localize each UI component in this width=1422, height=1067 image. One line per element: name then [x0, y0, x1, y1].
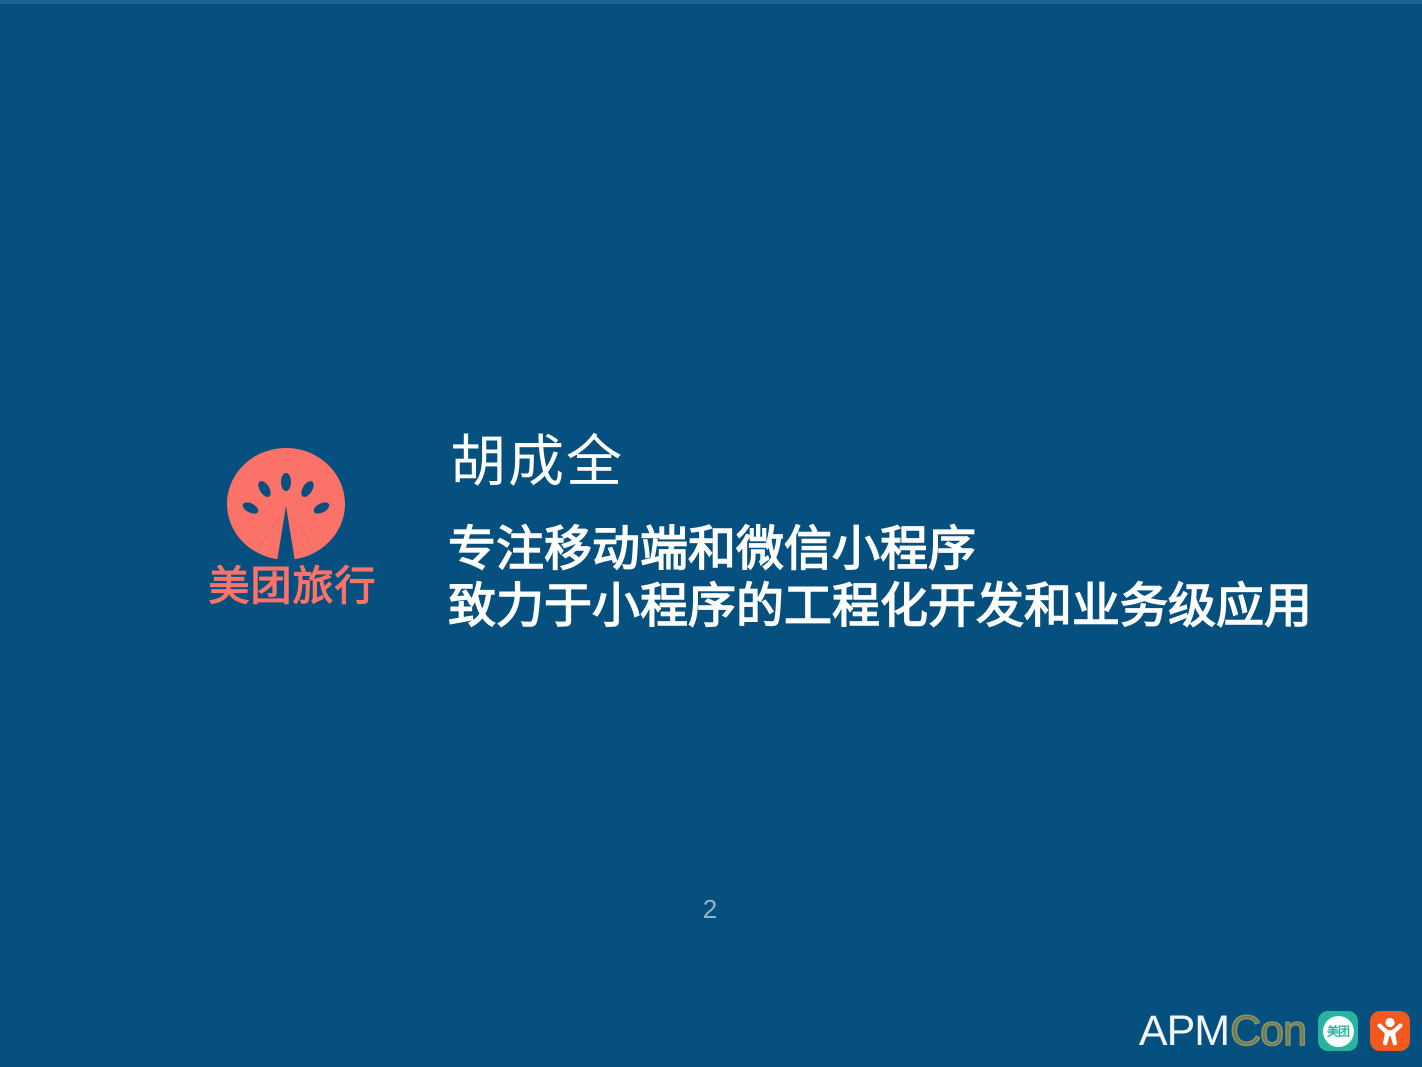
meituan-app-icon: 美团	[1318, 1011, 1358, 1051]
dianping-app-icon	[1370, 1011, 1410, 1051]
slide-top-edge-band	[0, 0, 1422, 4]
apmcon-logo-primary: APM	[1139, 1010, 1229, 1053]
speaker-tagline: 专注移动端和微信小程序 致力于小程序的工程化开发和业务级应用	[448, 522, 1312, 635]
presentation-slide: 美团旅行 胡成全 专注移动端和微信小程序 致力于小程序的工程化开发和业务级应用 …	[0, 0, 1422, 1067]
meituan-kangaroo-icon	[227, 448, 345, 564]
page-number: 2	[0, 896, 1422, 922]
brand-logo: 美团旅行	[205, 440, 380, 620]
meituan-app-icon-label: 美团	[1327, 1025, 1349, 1037]
footer-branding: APM Con 美团	[1139, 1003, 1410, 1059]
brand-wordmark: 美团旅行	[205, 566, 380, 607]
speaker-name: 胡成全	[450, 430, 624, 494]
apmcon-logo-secondary: Con	[1230, 1010, 1306, 1053]
apmcon-logo: APM Con	[1139, 1010, 1306, 1053]
tagline-line-2: 致力于小程序的工程化开发和业务级应用	[448, 579, 1312, 636]
tagline-line-1: 专注移动端和微信小程序	[448, 522, 1312, 579]
page-number-value: 2	[703, 894, 717, 924]
meituan-app-icon-disc: 美团	[1323, 1016, 1354, 1047]
